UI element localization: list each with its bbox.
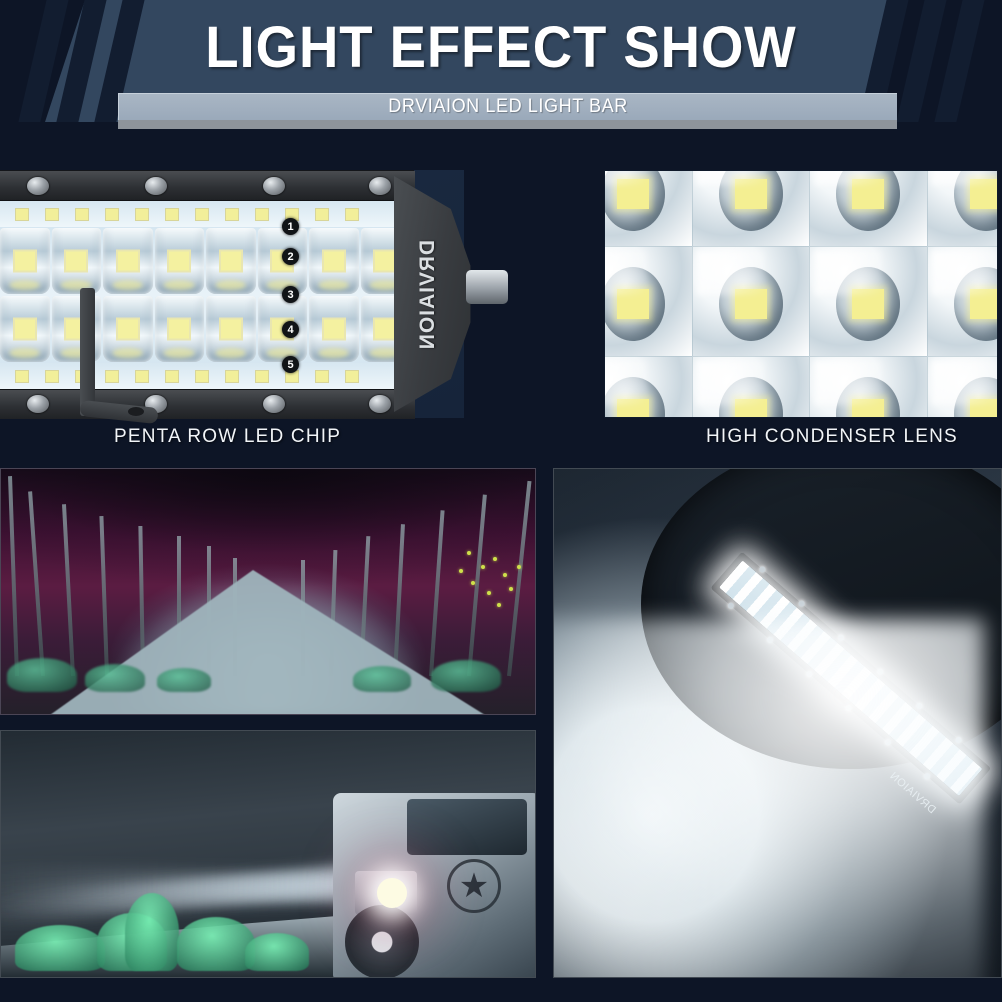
- callout-badge-4: 4: [282, 321, 299, 338]
- callout-badge-5: 5: [282, 356, 299, 373]
- bolt-icon: [263, 177, 285, 195]
- housing-rail-top: [0, 171, 415, 201]
- jeep-wheel: [345, 905, 419, 978]
- bracket-hole: [128, 407, 144, 416]
- caption-penta-row-led-chip: PENTA ROW LED CHIP: [114, 426, 341, 448]
- smd-led-row-1: [0, 201, 411, 227]
- lens-cell: [810, 170, 928, 247]
- lens-cell: [810, 247, 928, 357]
- lens-array: [604, 170, 998, 418]
- bolt-icon: [27, 395, 49, 413]
- header-banner: LIGHT EFFECT SHOW DRVIAION LED LIGHT BAR: [0, 0, 1002, 160]
- light-bar-beam-photo: DRVIAION: [553, 468, 1002, 978]
- road-surface: [43, 570, 493, 715]
- housing-rail-bottom: [0, 389, 415, 419]
- lens-cell: [693, 357, 811, 418]
- lens-cell: [604, 247, 693, 357]
- brand-logo: DRVIAION: [416, 240, 440, 350]
- lens-cell: [604, 357, 693, 418]
- callout-badge-2: 2: [282, 248, 299, 265]
- mounting-bracket: [80, 288, 158, 438]
- subtitle-bar-shadow: [118, 120, 897, 129]
- end-cap-housing: DRVIAION: [394, 170, 514, 418]
- lens-cell: [928, 170, 999, 247]
- subtitle-bar: DRVIAION LED LIGHT BAR: [118, 93, 897, 120]
- lens-cell: [928, 247, 999, 357]
- reflector-cup-row-2: [0, 227, 411, 295]
- light-flare: [377, 878, 407, 908]
- reflector-cup-row-3: [0, 295, 411, 363]
- smd-led-row-5: [0, 363, 411, 389]
- bolt-icon: [263, 395, 285, 413]
- connector-knob: [466, 270, 508, 304]
- bolt-icon: [145, 177, 167, 195]
- lens-cell: [693, 247, 811, 357]
- high-condenser-lens-photo: [604, 170, 998, 418]
- subtitle-text: DRVIAION LED LIGHT BAR: [388, 96, 628, 118]
- jeep-beam-night-photo: ★: [0, 730, 536, 978]
- page-title: LIGHT EFFECT SHOW: [30, 14, 972, 81]
- bracket-foot: [79, 400, 158, 424]
- caption-high-condenser-lens: HIGH CONDENSER LENS: [706, 426, 958, 448]
- callout-badge-1: 1: [282, 218, 299, 235]
- led-face: [0, 201, 411, 389]
- star-emblem-icon: ★: [447, 859, 501, 913]
- forest-road-night-photo: [0, 468, 536, 715]
- callout-badge-3: 3: [282, 286, 299, 303]
- jeep-windshield: [407, 799, 527, 855]
- lens-cell: [810, 357, 928, 418]
- product-detail-row: DRVIAION 1 2 3 4 5: [0, 160, 1002, 468]
- bracket-arm: [80, 288, 95, 416]
- penta-row-led-chip-photo: DRVIAION: [0, 170, 464, 418]
- subtitle-banner: DRVIAION LED LIGHT BAR: [118, 93, 897, 129]
- bolt-icon: [369, 177, 391, 195]
- bolt-icon: [369, 395, 391, 413]
- lens-cell: [604, 170, 693, 247]
- bolt-icon: [27, 177, 49, 195]
- lens-cell: [928, 357, 999, 418]
- marketing-banner: LIGHT EFFECT SHOW DRVIAION LED LIGHT BAR: [0, 0, 1002, 1002]
- lens-cell: [693, 170, 811, 247]
- light-bar-housing: [0, 170, 414, 418]
